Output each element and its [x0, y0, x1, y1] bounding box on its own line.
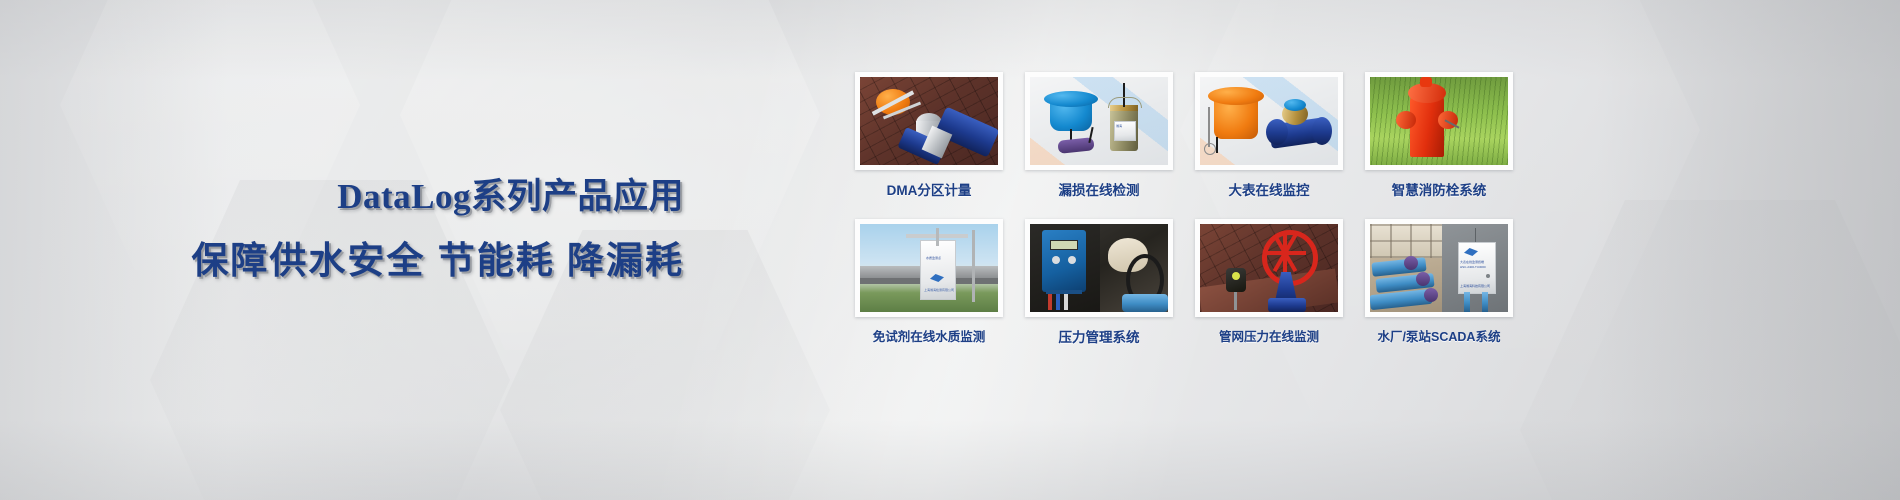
smart-hydrant-photo	[1370, 77, 1508, 165]
application-card[interactable]: 管网压力在线监测	[1195, 219, 1343, 357]
card-caption: 智慧消防栓系统	[1392, 179, 1487, 199]
photo-frame	[1195, 72, 1343, 170]
application-card-grid: DMA分区计量 瀚海 漏损在线	[855, 72, 1513, 357]
hex-watermark-6	[1520, 200, 1900, 500]
application-card[interactable]: 大表在线监测终端 HSC-2400-TU3000 上海瀚海科技有限公司 水厂/泵…	[1365, 219, 1513, 357]
photo-frame	[1025, 219, 1173, 317]
application-card[interactable]: 大表在线监控	[1195, 72, 1343, 210]
card-caption: 管网压力在线监测	[1219, 326, 1319, 345]
headline-line-1: DataLog系列产品应用	[0, 176, 684, 218]
photo-frame: 瀚海	[1025, 72, 1173, 170]
promo-banner: DataLog系列产品应用 保障供水安全 节能耗 降漏耗 DMA分区计量	[0, 0, 1900, 500]
large-meter-monitoring-photo	[1200, 77, 1338, 165]
application-card[interactable]: 智慧消防栓系统	[1365, 72, 1513, 210]
card-caption: 免试剂在线水质监测	[873, 326, 986, 345]
cabinet-brand-text: 上海瀚海科技有限公司	[1460, 284, 1490, 288]
card-caption: 压力管理系统	[1059, 326, 1140, 346]
scada-pumpstation-photo: 大表在线监测终端 HSC-2400-TU3000 上海瀚海科技有限公司	[1370, 224, 1508, 312]
application-card[interactable]: 压力管理系统	[1025, 219, 1173, 357]
card-caption: DMA分区计量	[887, 179, 972, 199]
card-caption: 漏损在线检测	[1059, 179, 1140, 199]
station-sign-text: 水质监测点	[926, 256, 941, 260]
card-caption: 水厂/泵站SCADA系统	[1378, 326, 1501, 345]
hex-watermark-3	[400, 0, 820, 350]
headline-block: DataLog系列产品应用 保障供水安全 节能耗 降漏耗	[0, 176, 700, 283]
photo-frame	[855, 72, 1003, 170]
pressure-management-photo	[1030, 224, 1168, 312]
cabinet-title-text: 大表在线监测终端	[1460, 260, 1484, 264]
leak-detection-photo: 瀚海	[1030, 77, 1168, 165]
cabinet-model-text: HSC-2400-TU3000	[1460, 265, 1486, 269]
network-pressure-photo	[1200, 224, 1338, 312]
application-card[interactable]: 瀚海 漏损在线检测	[1025, 72, 1173, 210]
application-card[interactable]: DMA分区计量	[855, 72, 1003, 210]
station-brand-text: 上海瀚海检测有限公司	[924, 288, 954, 292]
card-caption: 大表在线监控	[1229, 179, 1310, 199]
dma-metering-photo	[860, 77, 998, 165]
application-card[interactable]: 水质监测点 上海瀚海检测有限公司 免试剂在线水质监测	[855, 219, 1003, 357]
photo-frame	[1365, 72, 1513, 170]
water-quality-station-photo: 水质监测点 上海瀚海检测有限公司	[860, 224, 998, 312]
photo-frame: 大表在线监测终端 HSC-2400-TU3000 上海瀚海科技有限公司	[1365, 219, 1513, 317]
logger-label: 瀚海	[1116, 124, 1122, 128]
headline-line-2: 保障供水安全 节能耗 降漏耗	[0, 239, 684, 283]
photo-frame: 水质监测点 上海瀚海检测有限公司	[855, 219, 1003, 317]
photo-frame	[1195, 219, 1343, 317]
